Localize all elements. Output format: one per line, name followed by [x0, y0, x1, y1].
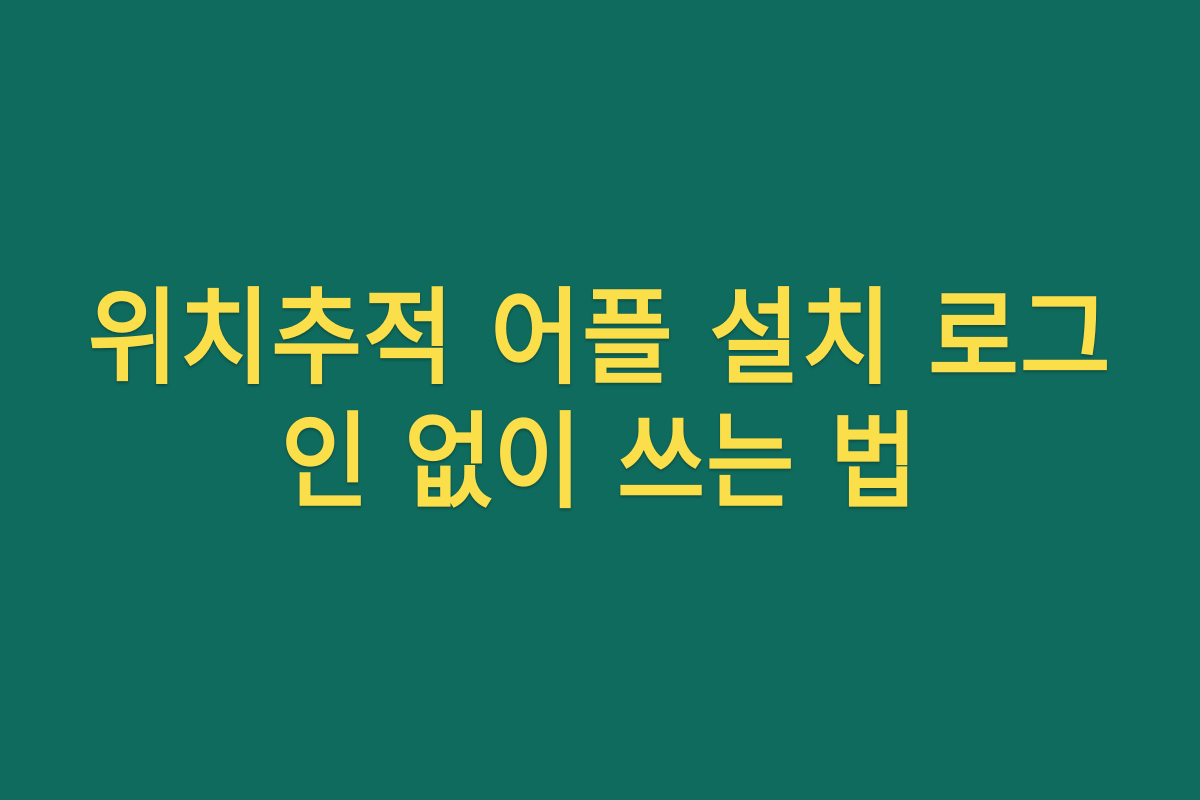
headline-line-2: 인 없이 쓰는 법: [281, 407, 919, 517]
thumbnail-canvas: 위치추적 어플 설치 로그 인 없이 쓰는 법: [0, 0, 1200, 800]
headline-line-1: 위치추적 어플 설치 로그: [88, 283, 1112, 393]
headline-block: 위치추적 어플 설치 로그 인 없이 쓰는 법: [0, 0, 1200, 800]
